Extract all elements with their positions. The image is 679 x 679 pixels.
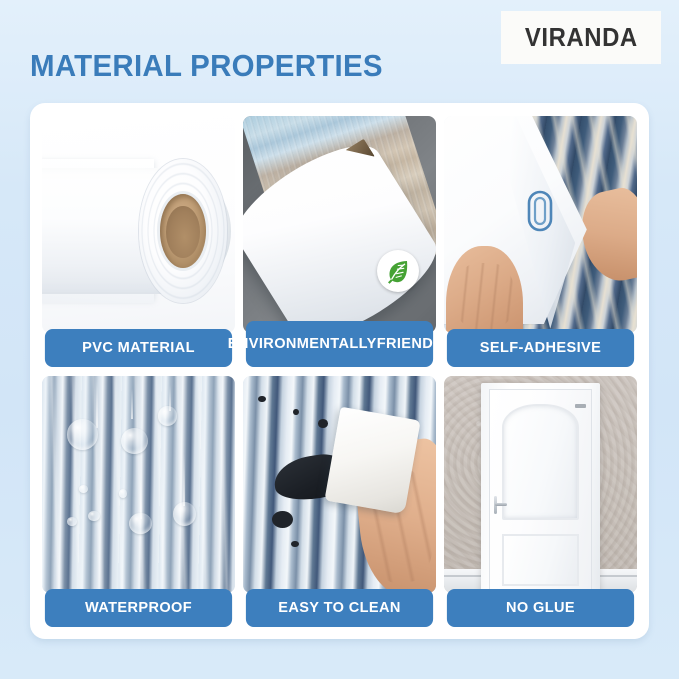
feature-label-line2: FRIENDLY <box>377 336 452 352</box>
features-grid: PVC MATERIAL <box>42 116 637 627</box>
feature-label-environmentally-friendly: ENVIRONMENTALLY FRIENDLY <box>246 321 433 367</box>
drop-trail-4 <box>183 454 185 506</box>
photo-pvc-roll <box>42 116 235 333</box>
roll-core-inner <box>166 206 199 258</box>
brand-logo: VIRANDA <box>501 11 661 64</box>
drop-trail-1 <box>96 380 98 428</box>
handle-bar <box>495 503 507 506</box>
feature-label-no-glue: NO GLUE <box>447 589 634 627</box>
photo-easy-to-clean <box>243 376 436 593</box>
photo-self-adhesive-peel <box>444 116 637 333</box>
feature-card-waterproof: WATERPROOF <box>42 376 235 627</box>
photo-waterproof <box>42 376 235 593</box>
stain-dot-2 <box>293 409 299 416</box>
feature-card-environmentally-friendly: ENVIRONMENTALLY FRIENDLY <box>243 116 436 367</box>
eco-leaf-badge <box>377 250 419 292</box>
door-leaf <box>489 389 592 591</box>
feature-card-pvc-material: PVC MATERIAL <box>42 116 235 367</box>
stain-dot-3 <box>318 419 328 428</box>
door-latch <box>575 404 586 408</box>
brand-name: VIRANDA <box>525 22 638 53</box>
door-panel-upper <box>502 404 579 520</box>
feature-card-no-glue: NO GLUE <box>444 376 637 627</box>
water-drop-1 <box>67 419 98 449</box>
page-title: MATERIAL PROPERTIES <box>30 48 383 84</box>
door-handle <box>494 496 507 514</box>
wood-stripe-texture <box>42 376 235 593</box>
drop-trail-2 <box>131 389 133 419</box>
stain-dot-4 <box>272 511 293 528</box>
roll-cardboard-core <box>160 194 206 268</box>
feature-label-self-adhesive: SELF-ADHESIVE <box>447 329 634 367</box>
feature-card-self-adhesive: SELF-ADHESIVE <box>444 116 637 367</box>
water-drop-6 <box>88 511 100 522</box>
water-drop-9 <box>119 489 127 498</box>
infographic-page: VIRANDA MATERIAL PROPERTIES PVC MATERIAL <box>0 0 679 679</box>
water-drop-7 <box>67 517 77 526</box>
leaf-icon <box>384 257 412 285</box>
water-drop-4 <box>173 502 196 526</box>
paperclip-icon <box>523 188 557 234</box>
cleaning-cloth <box>324 407 420 515</box>
stain-dot-1 <box>258 396 266 403</box>
feature-label-line1: ENVIRONMENTALLY <box>228 336 377 352</box>
photo-no-glue-door <box>444 376 637 593</box>
water-drop-3 <box>158 406 177 426</box>
door-frame <box>481 383 601 593</box>
feature-label-pvc-material: PVC MATERIAL <box>45 329 232 367</box>
feature-label-easy-to-clean: EASY TO CLEAN <box>246 589 433 627</box>
feature-label-waterproof: WATERPROOF <box>45 589 232 627</box>
features-panel: PVC MATERIAL <box>30 103 649 639</box>
feature-card-easy-to-clean: EASY TO CLEAN <box>243 376 436 627</box>
photo-peeling-wallpaper <box>243 116 436 333</box>
door-panel-lower <box>502 534 579 586</box>
